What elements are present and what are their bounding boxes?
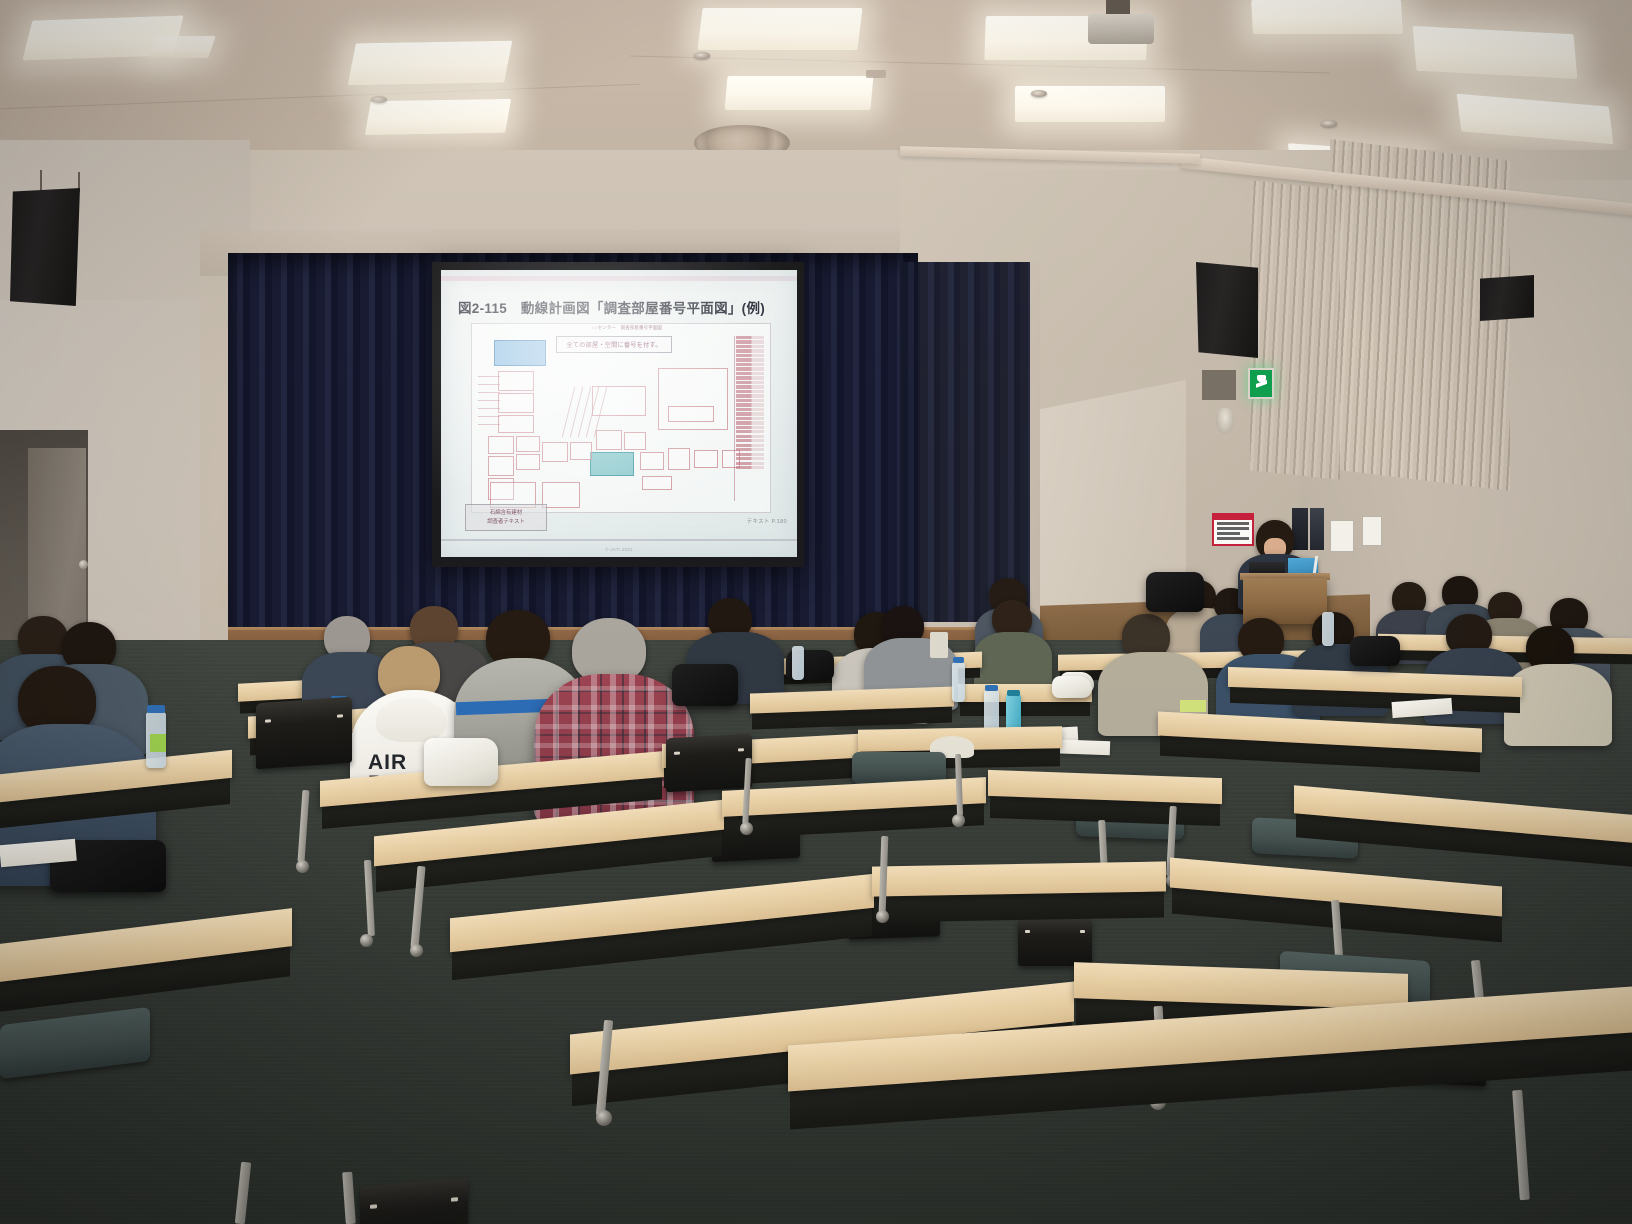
plan-list-item: [736, 448, 764, 451]
caster-wheel: [876, 910, 889, 923]
plan-list-item: [736, 466, 764, 469]
wall-speaker-left: [10, 188, 80, 306]
bottle-cap: [953, 657, 964, 663]
chair[interactable]: [1018, 918, 1092, 966]
plan-list-item: [736, 444, 764, 447]
wall-paper-notice: [1330, 520, 1354, 552]
plan-leader-line: [478, 424, 500, 425]
plan-list-item: [736, 394, 764, 397]
caster-wheel: [296, 860, 309, 873]
presenter-podium: [1243, 578, 1327, 624]
notice-header-bar: [1214, 515, 1252, 520]
caster-wheel: [740, 822, 753, 835]
plan-list-item: [736, 435, 764, 438]
sprinkler-head: [371, 96, 387, 103]
sticky-note: [1180, 700, 1206, 712]
attendee-torso: [974, 632, 1052, 692]
plan-list-item: [736, 376, 764, 379]
plan-leader-line: [478, 400, 500, 401]
jacket-hood: [376, 698, 446, 742]
notice-line: [1217, 532, 1240, 535]
ceiling-light-panel: [1251, 0, 1403, 34]
plan-list-item: [736, 345, 764, 348]
notice-line: [1217, 522, 1249, 525]
bottle-cap: [985, 685, 998, 691]
white-cap: [1052, 676, 1092, 698]
plan-list-item: [736, 385, 764, 388]
ceiling-light-panel: [697, 8, 862, 50]
bottle-cap: [147, 705, 165, 713]
plan-list-item: [736, 421, 764, 424]
plan-room: [596, 430, 622, 450]
plan-room: [498, 371, 534, 391]
plan-room: [516, 436, 540, 452]
slide-footer-reference: テキスト P.180: [747, 517, 787, 525]
slide-copyright: © JATI 2022: [605, 547, 632, 552]
running-man-glyph: [1256, 375, 1267, 393]
projection-screen: 図2-115 動線計画図「調査部屋番号平面図」(例) ○○センター 調査部屋番号…: [432, 262, 804, 567]
caster-wheel: [952, 814, 965, 827]
plan-list-item: [736, 403, 764, 406]
plan-list-item: [736, 439, 764, 442]
ceiling-light-panel: [1413, 26, 1578, 79]
plan-list-item: [736, 340, 764, 343]
sprinkler-head: [1321, 120, 1337, 127]
lecture-hall-photo: 図2-115 動線計画図「調査部屋番号平面図」(例) ○○センター 調査部屋番号…: [0, 0, 1632, 1224]
plan-list-item: [736, 430, 764, 433]
plan-leader-line: [478, 416, 500, 417]
water-bottle: [952, 662, 965, 702]
wall-panel-dark: [1292, 508, 1308, 550]
plan-room-highlight-blue: [494, 340, 546, 366]
slide-footer-badge: 石綿含有建材 調査者テキスト: [465, 504, 547, 531]
stage-curtain-right: [900, 262, 1030, 622]
plan-list-item: [736, 358, 764, 361]
bag: [1350, 636, 1400, 666]
acoustic-slat-panel: [1250, 180, 1340, 479]
sprinkler-head: [1031, 90, 1047, 97]
plan-list-item: [736, 457, 764, 460]
ceiling-light-panel: [725, 76, 874, 110]
table-row-5: [872, 861, 1166, 896]
plan-room: [694, 450, 718, 468]
speaker-hanger: [40, 170, 42, 192]
slide-top-band: [441, 276, 797, 281]
caster-wheel: [410, 944, 423, 957]
plan-list-item: [736, 390, 764, 393]
slide-bottom-band: [441, 539, 797, 541]
plan-list-item: [736, 372, 764, 375]
plan-leader-line: [478, 408, 500, 409]
ceiling-light-panel: [148, 36, 216, 58]
plan-room: [570, 442, 592, 460]
plan-list-item: [736, 412, 764, 415]
slide-title: 図2-115 動線計画図「調査部屋番号平面図」(例): [458, 297, 765, 317]
chair[interactable]: [360, 1177, 468, 1224]
plan-list-item: [736, 408, 764, 411]
plan-room: [668, 406, 714, 422]
plan-list-item: [736, 354, 764, 357]
door-knob-icon[interactable]: [79, 560, 88, 569]
plan-callout-top: 全ての部屋・空間に番号を付す。: [556, 336, 672, 353]
plan-leader-line: [478, 384, 500, 385]
chair[interactable]: [256, 697, 352, 770]
plan-list-item: [736, 363, 764, 366]
slide-footer-line1: 石綿含有建材: [490, 509, 522, 517]
slide-footer-line2: 調査者テキスト: [487, 518, 525, 526]
plan-room: [542, 482, 580, 508]
plan-room: [516, 454, 540, 470]
plan-list-item: [736, 462, 764, 465]
plan-list-rule: [734, 336, 735, 501]
plan-room: [488, 456, 514, 476]
plan-room-list: [736, 336, 764, 501]
tissue-box: [930, 632, 948, 658]
wall-panel-dark: [1310, 508, 1324, 550]
ceiling-projector: [1088, 14, 1154, 44]
wall-vent: [1202, 370, 1236, 400]
projection-screen-surface: 図2-115 動線計画図「調査部屋番号平面図」(例) ○○センター 調査部屋番号…: [441, 270, 797, 557]
plan-list-item: [736, 336, 764, 339]
wall-speaker-right-far: [1480, 275, 1534, 321]
plan-leader-line: [478, 376, 500, 377]
ceiling-fitting: [866, 70, 886, 78]
caster-wheel: [596, 1110, 612, 1126]
notice-line: [1217, 537, 1249, 540]
bottle-label: [150, 734, 166, 752]
wall-dome-camera: [1216, 408, 1234, 434]
plan-leader-line: [478, 392, 500, 393]
plan-list-item: [736, 426, 764, 429]
plan-room: [668, 448, 690, 470]
caster-wheel: [360, 934, 373, 947]
plan-list-item: [736, 453, 764, 456]
white-bag: [424, 738, 498, 786]
notice-line: [1217, 527, 1249, 530]
plan-room-highlight-teal: [590, 452, 634, 476]
plan-list-item: [736, 349, 764, 352]
ceiling-light-panel: [365, 99, 511, 135]
plan-room: [642, 476, 672, 490]
plan-room: [640, 452, 664, 470]
wall-speaker-right: [1196, 262, 1258, 358]
floor-plan-header: ○○センター 調査部屋番号平面図: [542, 325, 712, 331]
sprinkler-head: [694, 52, 710, 59]
backpack: [672, 664, 738, 706]
wall-paper-notice: [1362, 516, 1382, 546]
water-bottle: [792, 646, 804, 680]
emergency-exit-icon: [1248, 368, 1274, 399]
plan-list-item: [736, 399, 764, 402]
floor-plan-diagram: ○○センター 調査部屋番号平面図: [471, 323, 771, 513]
plan-leader-line: [562, 387, 575, 438]
plan-room: [542, 442, 568, 462]
plan-list-item: [736, 417, 764, 420]
table-apron: [960, 700, 1090, 716]
ceiling-light-panel: [348, 41, 513, 86]
plan-list-item: [736, 381, 764, 384]
backpack: [1146, 572, 1204, 612]
plan-room: [624, 432, 646, 450]
bottle-cap: [1007, 690, 1020, 696]
chair[interactable]: [666, 734, 752, 793]
wall-notice-red: [1212, 513, 1254, 546]
water-bottle: [1322, 612, 1334, 646]
plan-room: [498, 393, 534, 413]
plan-list-item: [736, 367, 764, 370]
plan-room: [498, 415, 534, 433]
plan-room: [488, 436, 514, 454]
